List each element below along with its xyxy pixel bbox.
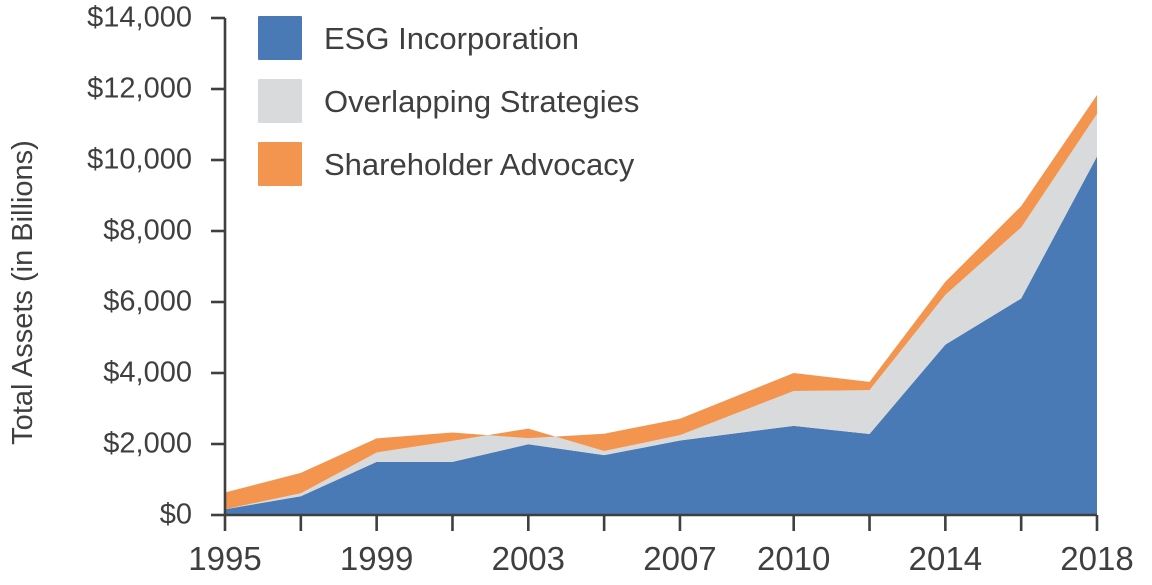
legend-label-shareholder-advocacy: Shareholder Advocacy bbox=[324, 149, 634, 180]
chart-legend: ESG Incorporation Overlapping Strategies… bbox=[258, 16, 639, 186]
legend-item-0[interactable]: ESG Incorporation bbox=[258, 16, 639, 60]
legend-label-overlapping-strategies: Overlapping Strategies bbox=[324, 86, 639, 117]
legend-item-2[interactable]: Shareholder Advocacy bbox=[258, 142, 639, 186]
legend-swatch-overlapping-strategies bbox=[258, 79, 302, 123]
legend-label-esg-incorporation: ESG Incorporation bbox=[324, 23, 579, 54]
legend-swatch-shareholder-advocacy bbox=[258, 142, 302, 186]
legend-swatch-esg-incorporation bbox=[258, 16, 302, 60]
legend-item-1[interactable]: Overlapping Strategies bbox=[258, 79, 639, 123]
chart-container: Total Assets (in Billions) $0$2,000$4,00… bbox=[0, 0, 1152, 585]
